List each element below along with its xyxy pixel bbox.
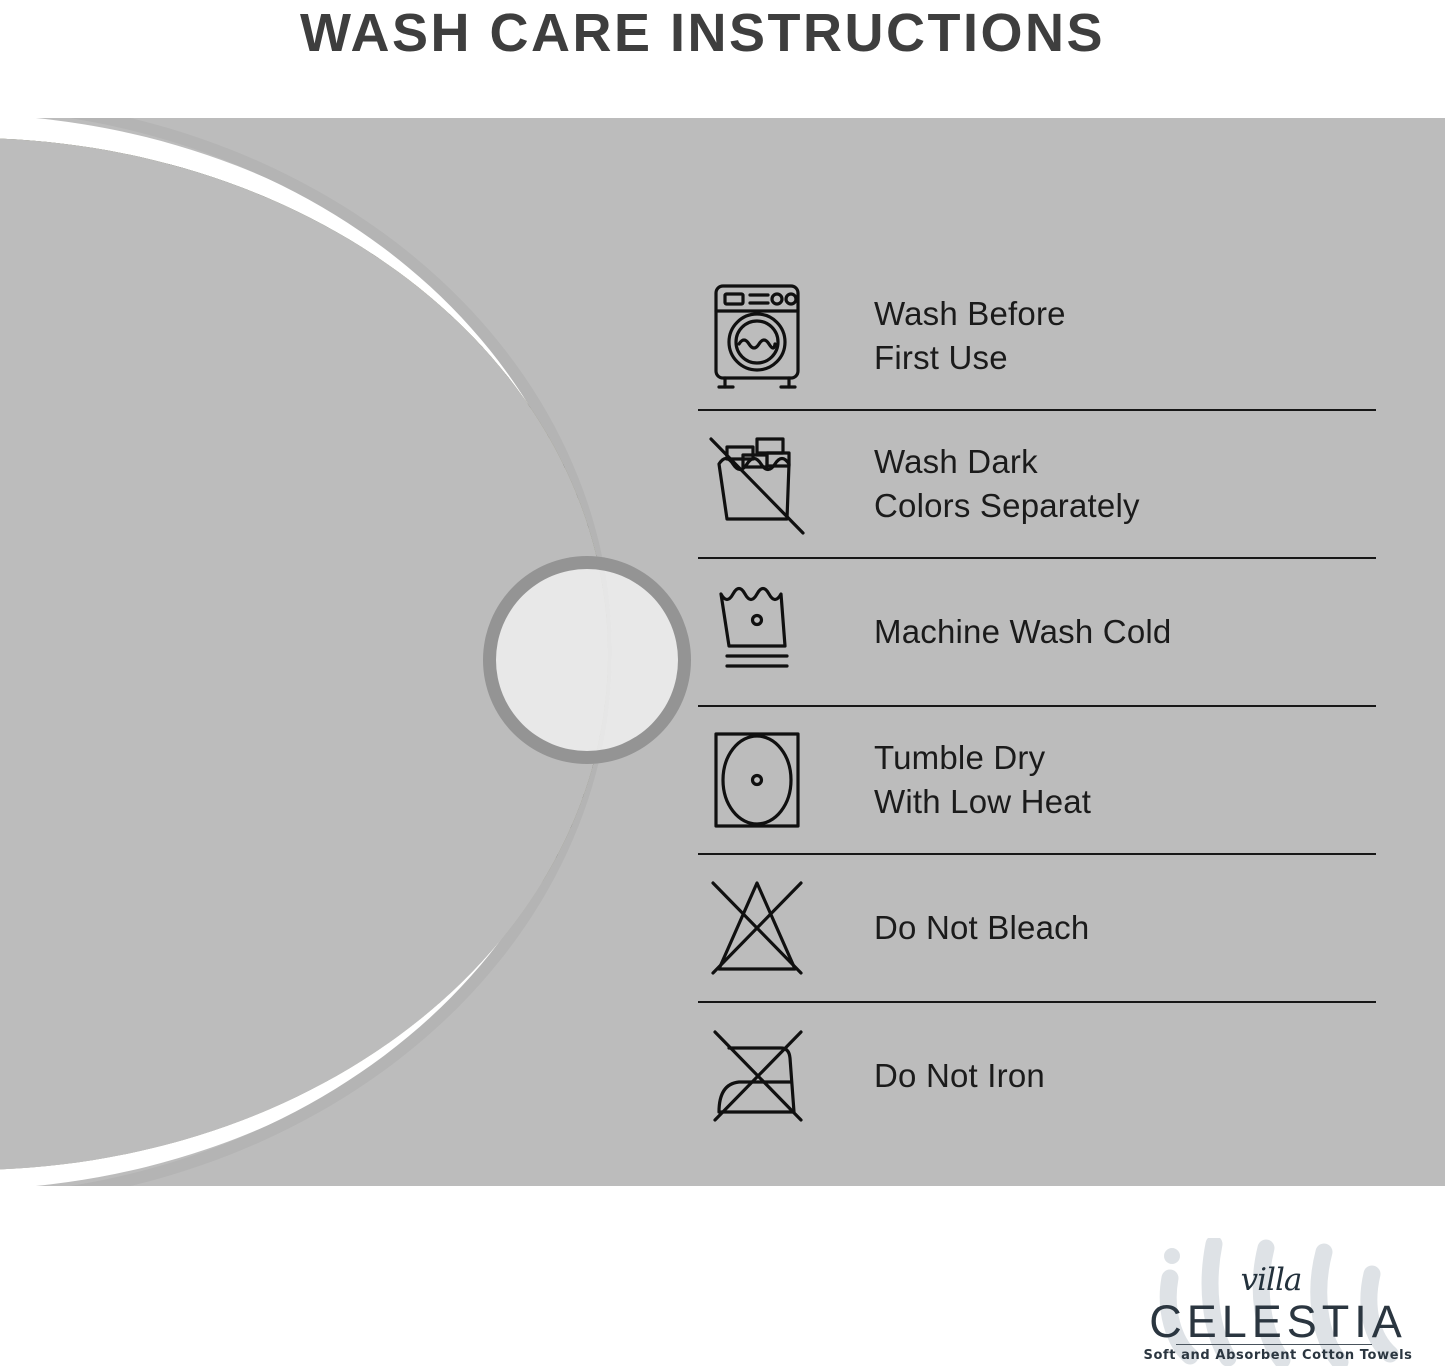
- logo-rule: [1176, 1344, 1372, 1345]
- page-title: WASH CARE INSTRUCTIONS: [0, 2, 1405, 64]
- do-not-bleach-icon: [698, 877, 816, 979]
- care-label: Do Not Bleach: [874, 906, 1089, 950]
- content-panel: Wash Before First Use Wash Dark Colors S…: [0, 118, 1445, 1186]
- brand-logo: villa CELESTIA Soft and Absorbent Cotton…: [1128, 1238, 1428, 1366]
- logo-script-word: villa: [1128, 1262, 1414, 1298]
- care-row-tumble-dry-low-heat: Tumble Dry With Low Heat: [698, 707, 1378, 853]
- care-label: Machine Wash Cold: [874, 610, 1171, 654]
- care-row-machine-wash-cold: Machine Wash Cold: [698, 559, 1378, 705]
- care-row-wash-before-first-use: Wash Before First Use: [698, 263, 1378, 409]
- washing-machine-icon: [698, 282, 816, 390]
- wash-care-instructions-graphic: WASH CARE INSTRUCTIONS: [0, 0, 1445, 1367]
- machine-wash-cold-icon: [698, 584, 816, 680]
- tumble-dry-low-heat-icon: [698, 728, 816, 832]
- logo-wordmark: CELESTIA: [1128, 1296, 1428, 1348]
- care-label: Tumble Dry With Low Heat: [874, 736, 1091, 824]
- do-not-iron-icon: [698, 1026, 816, 1126]
- no-mixed-colors-basket-icon: [698, 429, 816, 539]
- care-row-do-not-iron: Do Not Iron: [698, 1003, 1378, 1149]
- care-instruction-list: Wash Before First Use Wash Dark Colors S…: [698, 263, 1378, 1149]
- care-label: Wash Before First Use: [874, 292, 1066, 380]
- circular-highlight-overlay: [483, 556, 691, 764]
- care-label: Do Not Iron: [874, 1054, 1045, 1098]
- logo-tagline: Soft and Absorbent Cotton Towels: [1128, 1348, 1428, 1363]
- care-row-wash-dark-colors-separately: Wash Dark Colors Separately: [698, 411, 1378, 557]
- care-label: Wash Dark Colors Separately: [874, 440, 1140, 528]
- care-row-do-not-bleach: Do Not Bleach: [698, 855, 1378, 1001]
